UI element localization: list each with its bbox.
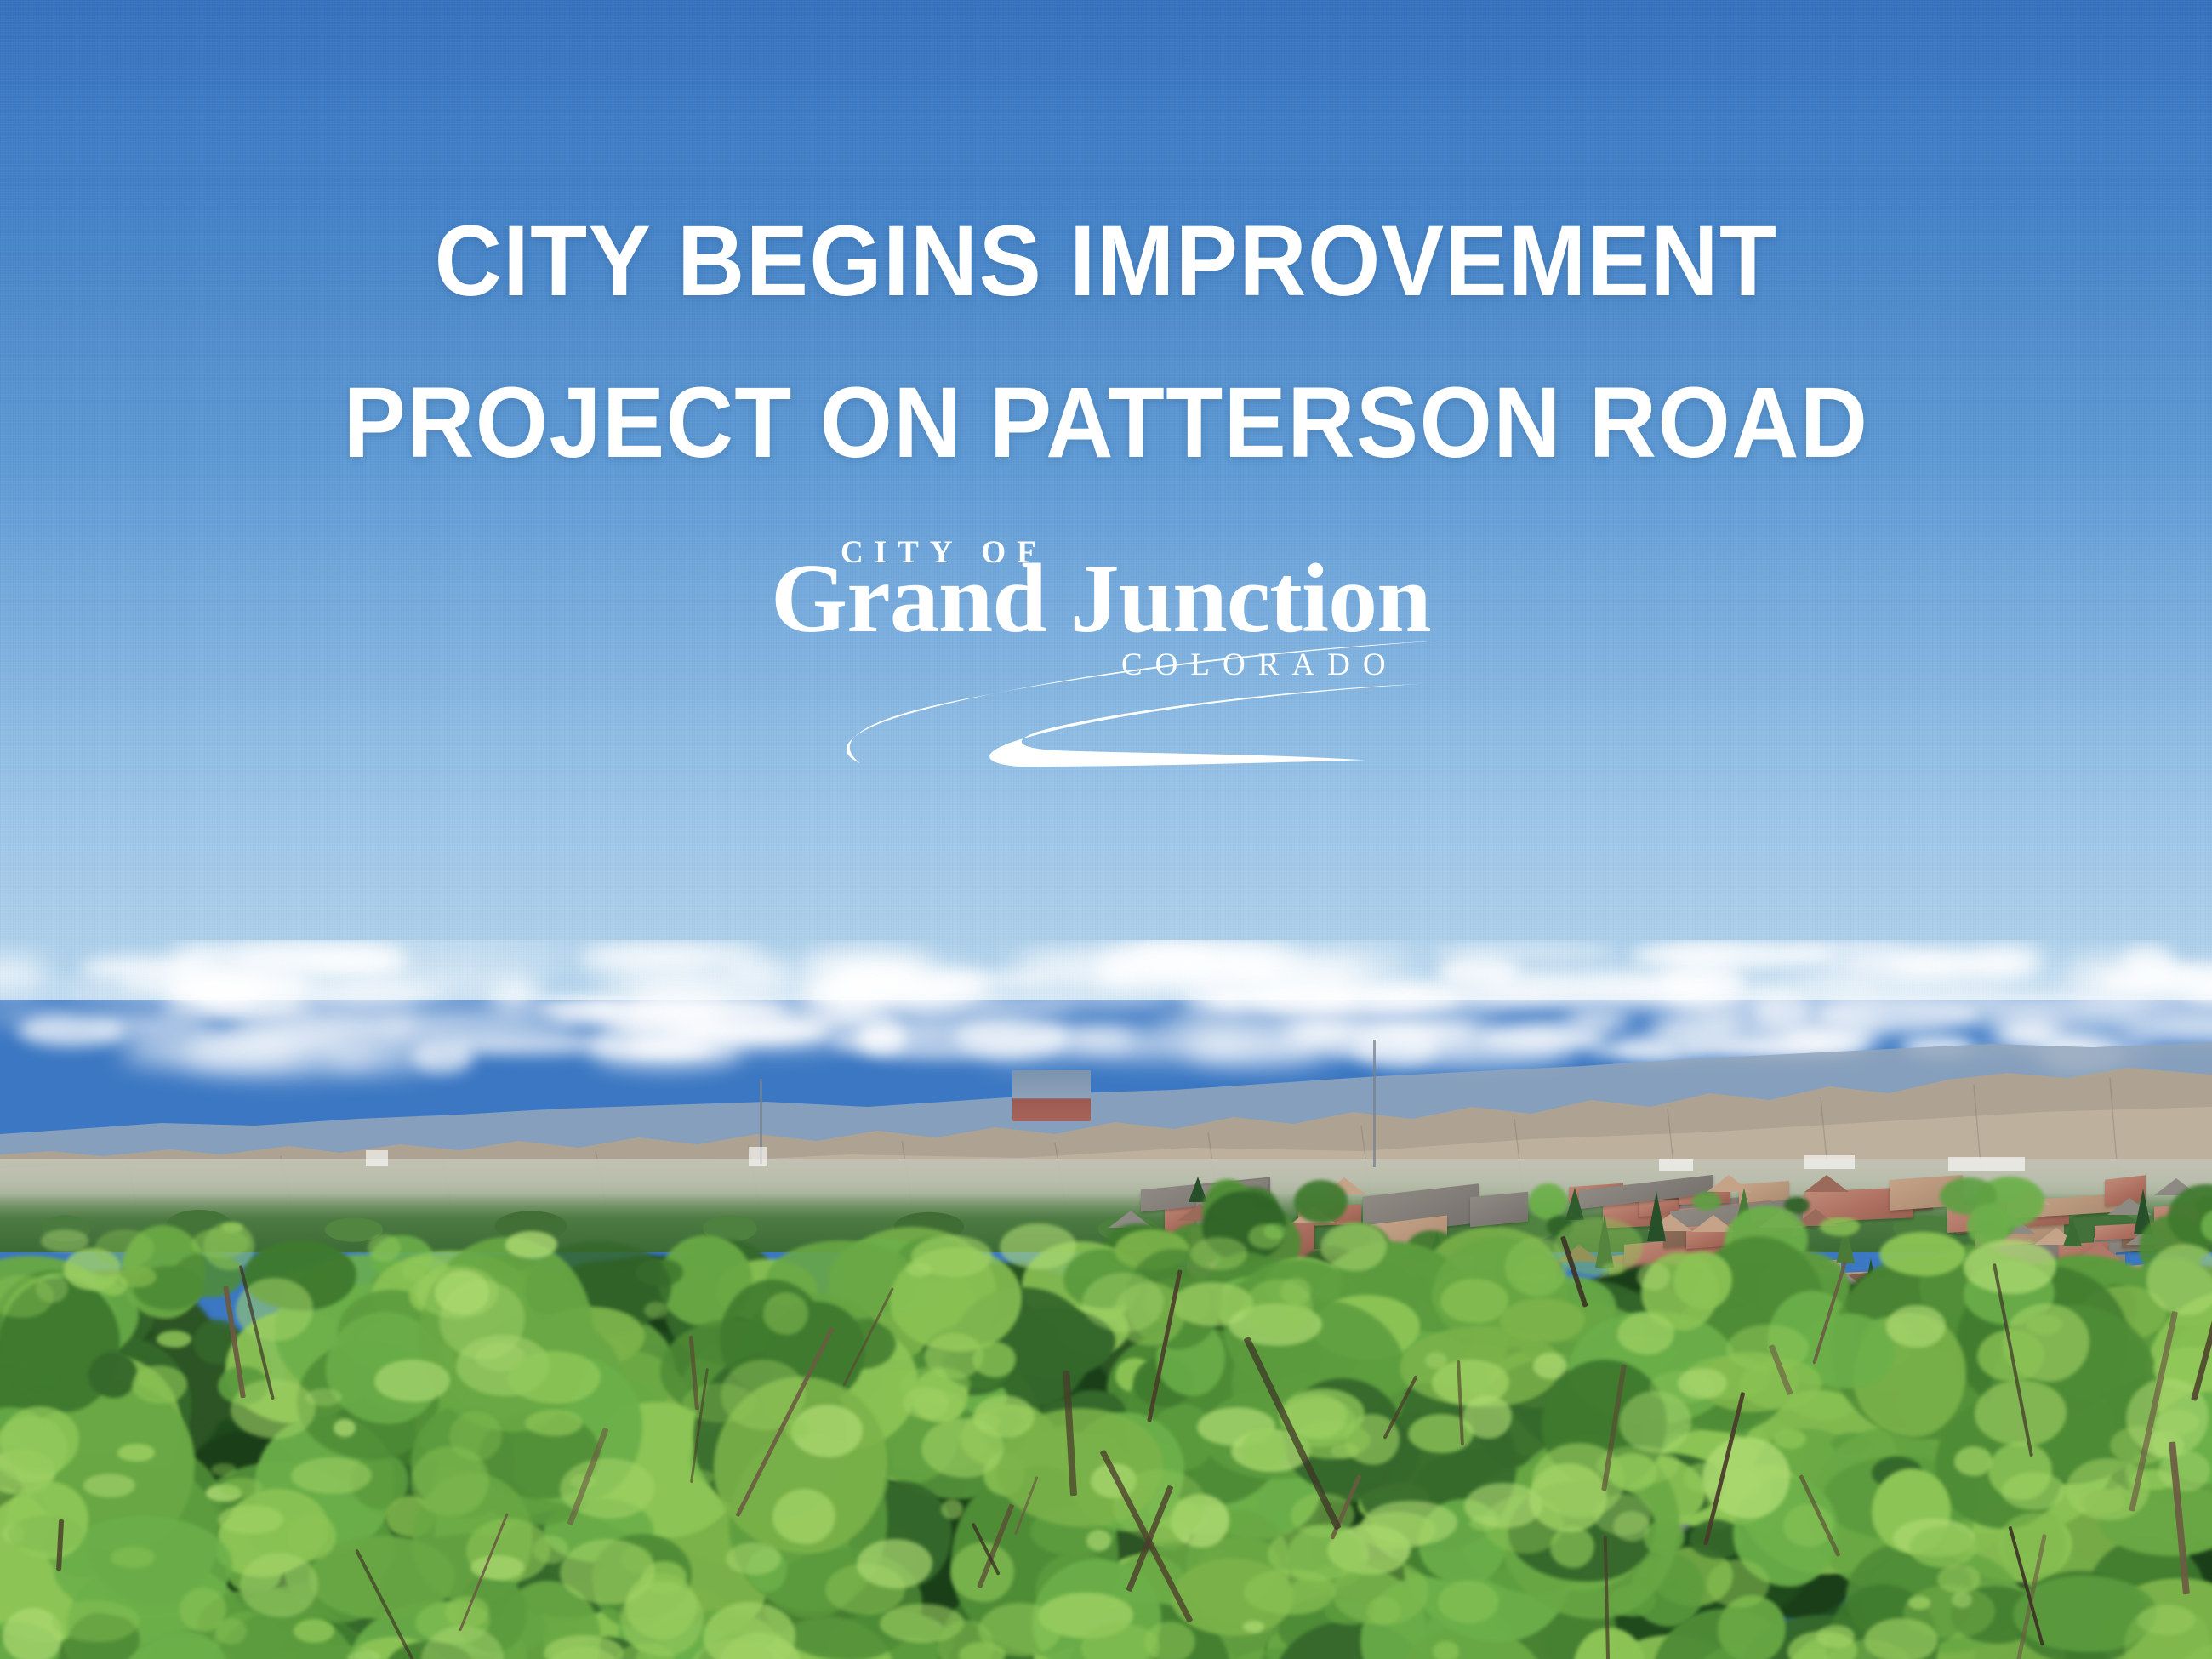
cloud	[1790, 944, 1909, 954]
tree-highlight	[1617, 1313, 1674, 1354]
tree-highlight	[2137, 1605, 2195, 1635]
tree-highlight	[903, 1387, 949, 1419]
tree-highlight	[132, 1365, 187, 1404]
tree-highlight	[1438, 1581, 1498, 1622]
tree-highlight	[6, 1481, 88, 1559]
tree-highlight	[470, 1555, 525, 1580]
tree-highlight	[620, 1582, 704, 1656]
tree-highlight	[507, 1351, 601, 1404]
cloud	[1316, 947, 1422, 959]
cloud	[346, 941, 575, 951]
tree-highlight	[973, 1413, 1001, 1431]
tree-highlight	[1964, 1240, 2056, 1294]
tree-highlight	[117, 1444, 155, 1461]
cloud	[1891, 949, 2032, 981]
tree-highlight	[1816, 1625, 1855, 1648]
cloud	[1973, 985, 2104, 996]
tree-highlight	[772, 1489, 835, 1544]
tree-highlight	[1366, 1597, 1400, 1624]
tree-foliage	[88, 1352, 137, 1398]
tree-highlight	[157, 1331, 191, 1348]
tree-highlight	[180, 1588, 227, 1632]
tree-highlight	[1909, 1526, 1976, 1568]
tree-highlight	[525, 1410, 582, 1436]
tree-highlight	[374, 1360, 449, 1402]
cloud	[2123, 945, 2175, 978]
tree-highlight	[1462, 1395, 1512, 1439]
distant-building	[366, 1150, 388, 1166]
tree-foliage	[1879, 1232, 1965, 1276]
hospital-building	[1012, 1070, 1091, 1121]
cloud	[1660, 964, 1745, 1002]
tree-highlight	[1954, 1446, 1993, 1476]
tree-highlight	[52, 1600, 140, 1642]
radio-tower	[1373, 1040, 1376, 1167]
cloud	[1097, 957, 1141, 984]
cloud	[581, 942, 760, 969]
tree-highlight	[1433, 1641, 1460, 1659]
tree-highlight	[1678, 1368, 1727, 1400]
cloud	[1964, 1010, 2141, 1023]
tree-highlight	[1707, 1559, 1770, 1608]
tree-highlight	[220, 1478, 262, 1497]
distant-building	[1948, 1157, 2025, 1171]
conifer-tree	[1565, 1188, 1584, 1220]
tree-highlight	[1248, 1224, 1283, 1250]
tree-highlight	[1144, 1622, 1195, 1659]
tree-highlight	[1952, 1592, 1973, 1608]
tree-highlight	[1440, 1279, 1508, 1322]
cloud	[1185, 962, 1411, 983]
tree-highlight	[1190, 1237, 1247, 1270]
distant-building	[1804, 1155, 1855, 1169]
tree-highlight	[1607, 1453, 1658, 1491]
cloud	[274, 990, 424, 1013]
cloud	[122, 968, 313, 997]
tree-foliage	[1673, 1251, 1732, 1309]
cloud	[1183, 986, 1251, 1013]
tree-highlight	[857, 1539, 932, 1588]
tree-highlight	[763, 1292, 808, 1335]
neighborhood-tree	[1529, 1183, 1567, 1220]
tree-highlight	[1820, 1217, 1860, 1236]
tree-highlight	[1464, 1483, 1542, 1529]
tree-highlight	[291, 1457, 372, 1494]
tree-highlight	[1000, 1223, 1076, 1269]
tree-highlight	[94, 1229, 153, 1268]
tree-highlight	[1243, 1621, 1264, 1633]
house-gable	[1804, 1175, 1849, 1192]
tree-highlight	[368, 1234, 401, 1262]
cloud	[534, 997, 619, 1018]
sky-grain	[0, 0, 2212, 1000]
tree-highlight	[1241, 1428, 1287, 1470]
tree-foliage	[1644, 1520, 1684, 1555]
tree-highlight	[294, 1619, 334, 1643]
tree-highlight	[218, 1505, 282, 1535]
tree-highlight	[1637, 1263, 1670, 1291]
cloud	[1438, 955, 1519, 989]
tree-highlight	[1082, 1273, 1165, 1332]
tree-highlight	[1613, 1511, 1650, 1542]
sky-background	[0, 0, 2212, 1000]
distant-building	[1659, 1159, 1693, 1171]
tree-highlight	[402, 1257, 449, 1284]
tree-highlight	[1320, 1223, 1387, 1271]
tree-highlight	[191, 1229, 249, 1258]
tree-highlight	[1425, 1352, 1447, 1369]
tree-highlight	[240, 1553, 318, 1618]
cloud	[1814, 995, 1979, 1033]
tree-highlight	[1886, 1305, 1947, 1348]
tree-highlight	[1, 1406, 79, 1474]
tree-highlight	[726, 1542, 781, 1575]
tree-highlight	[1268, 1526, 1363, 1580]
cloud	[601, 979, 789, 1010]
cloud	[1132, 944, 1204, 970]
tree-highlight	[505, 1231, 557, 1257]
tree-highlight	[1356, 1512, 1436, 1549]
tree-highlight	[305, 1388, 342, 1406]
neighborhood-tree	[1692, 1192, 1721, 1211]
tree-highlight	[941, 1499, 964, 1519]
tree-highlight	[334, 1419, 356, 1437]
cloud	[1673, 1009, 1747, 1022]
tree-highlight	[911, 1235, 992, 1277]
tree-highlight	[211, 1463, 237, 1476]
tree-highlight	[449, 1411, 501, 1461]
tree-highlight	[621, 1546, 653, 1573]
tree-highlight	[1998, 1513, 2070, 1574]
tree-highlight	[1505, 1237, 1568, 1296]
tree-highlight	[1903, 1585, 1995, 1639]
tree-highlight	[83, 1474, 135, 1497]
tree-highlight	[1550, 1526, 1594, 1568]
banner-image: CITY BEGINS IMPROVEMENT PROJECT ON PATTE…	[0, 0, 2212, 1659]
tree-highlight	[644, 1302, 668, 1319]
tree-highlight	[111, 1547, 156, 1568]
tree-highlight	[1533, 1353, 1567, 1379]
foreground-tree-canopy	[0, 1217, 2212, 1659]
tree-highlight	[1086, 1530, 1112, 1550]
tree-highlight	[1937, 1565, 1981, 1593]
tree-highlight	[1243, 1280, 1313, 1336]
tree-highlight	[98, 1274, 128, 1296]
tree-highlight	[287, 1514, 336, 1559]
distant-building	[749, 1147, 767, 1166]
tree-highlight	[2002, 1472, 2065, 1510]
tree-highlight	[972, 1342, 1016, 1377]
